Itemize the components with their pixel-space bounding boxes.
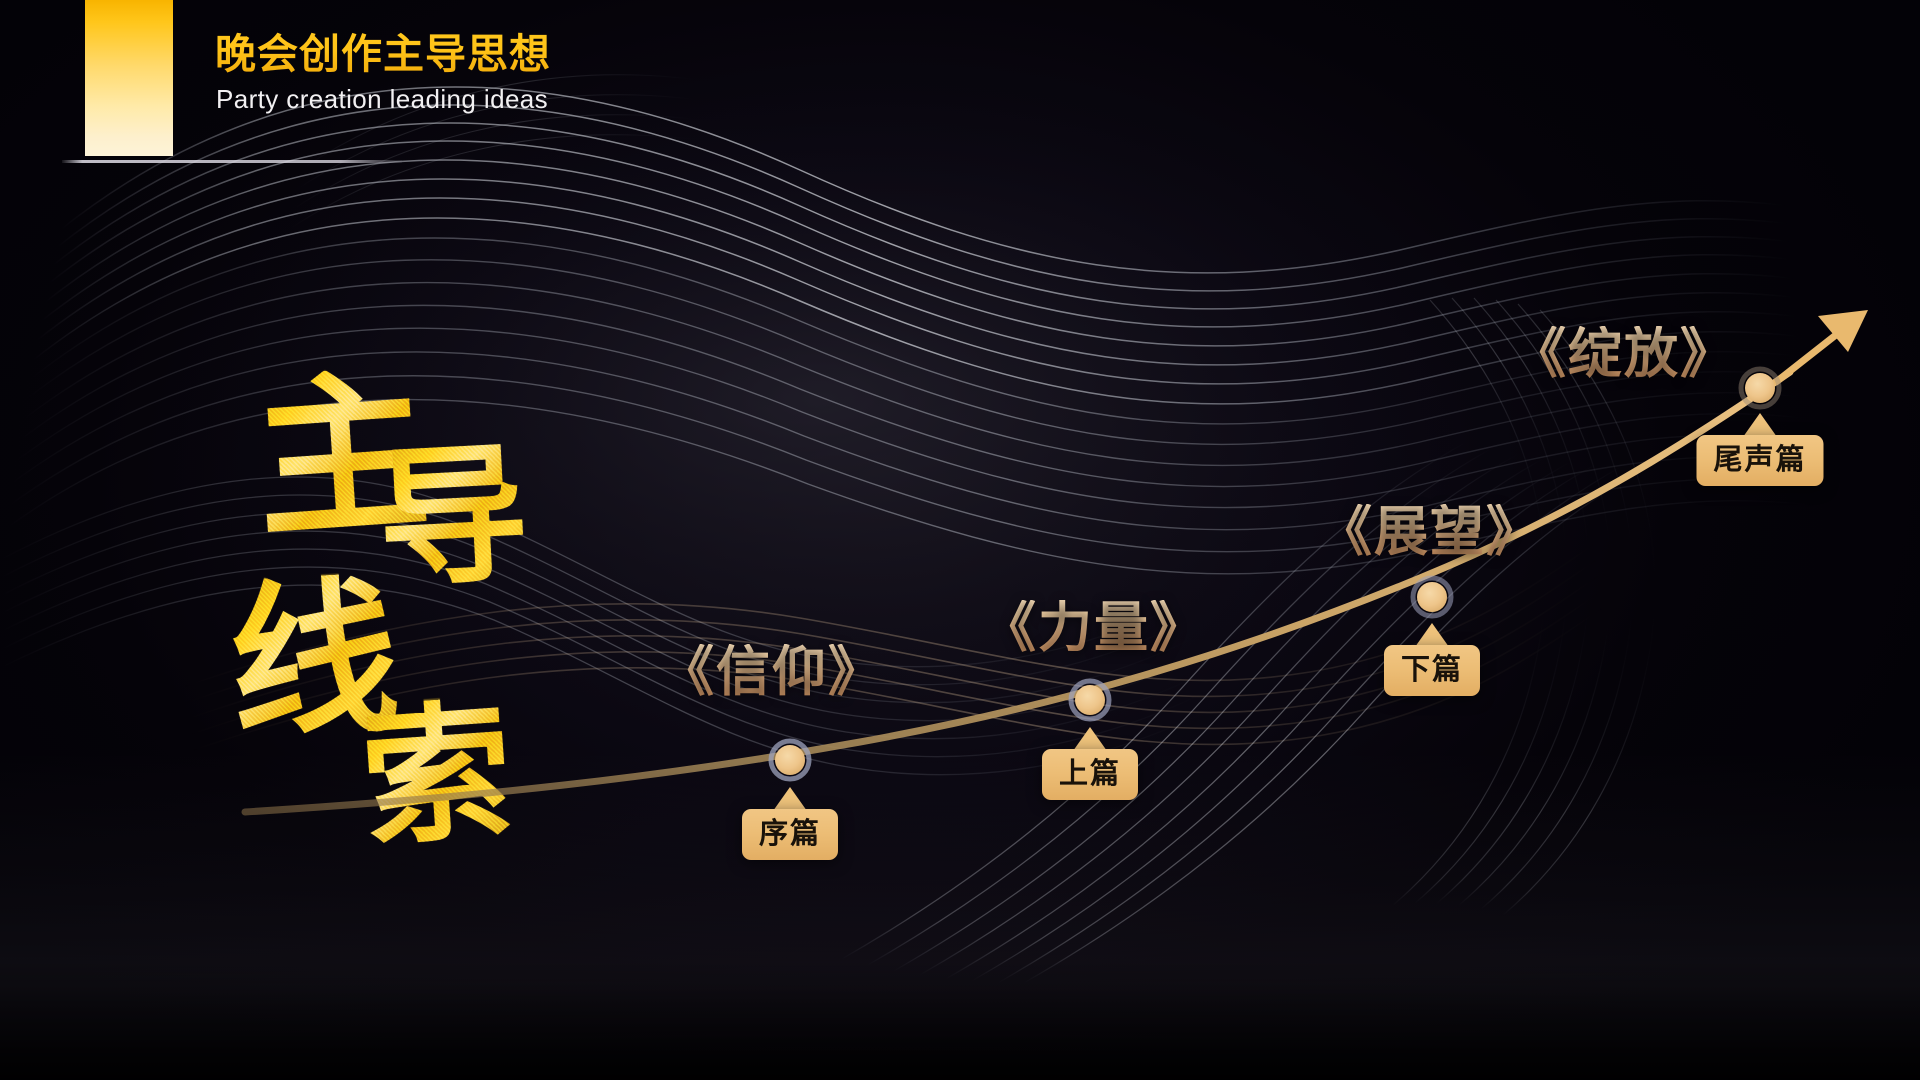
chapter-title-2: 《力量》 xyxy=(982,600,1206,654)
chapter-title-3: 《展望》 xyxy=(1318,504,1542,558)
journey-curve-group xyxy=(0,0,1920,1080)
badge-label-4: 尾声篇 xyxy=(1696,435,1823,486)
badge-label-3: 下篇 xyxy=(1384,645,1480,696)
badge-pointer-icon xyxy=(773,787,807,811)
badge-label-1: 序篇 xyxy=(742,809,838,860)
slide-canvas: 晚会创作主导思想 Party creation leading ideas 主 … xyxy=(0,0,1920,1080)
chapter-title-4: 《绽放》 xyxy=(1512,326,1736,380)
journey-path xyxy=(245,372,1790,812)
badge-pointer-icon xyxy=(1073,727,1107,751)
chapter-title-1: 《信仰》 xyxy=(660,644,884,698)
badge-label-2: 上篇 xyxy=(1042,749,1138,800)
badge-pointer-icon xyxy=(1743,413,1777,437)
milestone-nodes xyxy=(771,369,1779,779)
badge-pointer-icon xyxy=(1415,623,1449,647)
